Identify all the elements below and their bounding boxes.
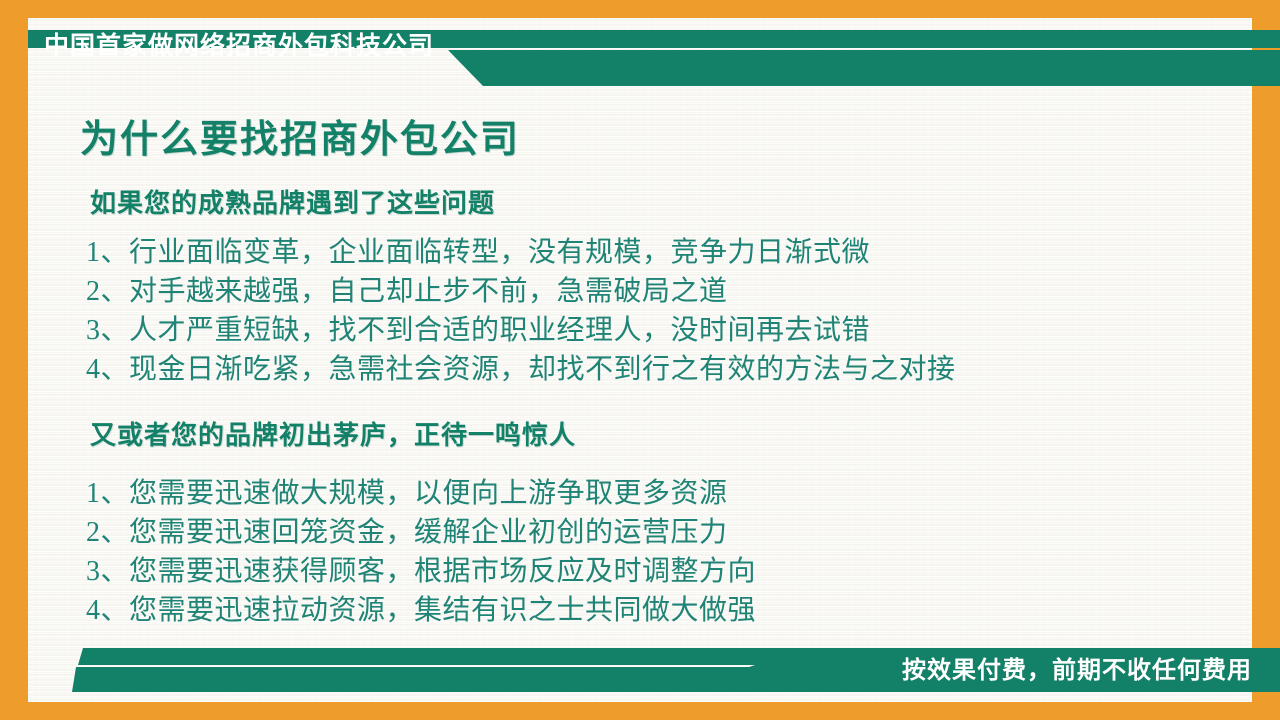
footer-tagline: 按效果付费，前期不收任何费用: [902, 657, 1252, 686]
list-item: 1、行业面临变革，企业面临转型，没有规模，竞争力日渐式微: [86, 233, 956, 272]
list-item: 4、您需要迅速拉动资源，集结有识之士共同做大做强: [86, 591, 756, 630]
list-item: 2、您需要迅速回笼资金，缓解企业初创的运营压力: [86, 513, 756, 552]
bullet-list-2: 1、您需要迅速做大规模，以便向上游争取更多资源 2、您需要迅速回笼资金，缓解企业…: [86, 474, 756, 630]
list-item: 3、人才严重短缺，找不到合适的职业经理人，没时间再去试错: [86, 311, 956, 350]
list-item: 1、您需要迅速做大规模，以便向上游争取更多资源: [86, 474, 756, 513]
list-item: 4、现金日渐吃紧，急需社会资源，却找不到行之有效的方法与之对接: [86, 350, 956, 389]
bullet-list-1: 1、行业面临变革，企业面临转型，没有规模，竞争力日渐式微 2、对手越来越强，自己…: [86, 233, 956, 389]
slide: 中国首家做网络招商外包科技公司 为什么要找招商外包公司 如果您的成熟品牌遇到了这…: [0, 0, 1280, 720]
header-tagline: 中国首家做网络招商外包科技公司: [44, 34, 434, 59]
list-item: 2、对手越来越强，自己却止步不前，急需破局之道: [86, 272, 956, 311]
page-title: 为什么要找招商外包公司: [80, 118, 520, 164]
footer-ribbon: 按效果付费，前期不收任何费用: [28, 648, 1280, 692]
section-heading-1: 如果您的成熟品牌遇到了这些问题: [90, 188, 495, 219]
list-item: 3、您需要迅速获得顾客，根据市场反应及时调整方向: [86, 552, 756, 591]
section-heading-2: 又或者您的品牌初出茅庐，正待一鸣惊人: [90, 420, 576, 451]
